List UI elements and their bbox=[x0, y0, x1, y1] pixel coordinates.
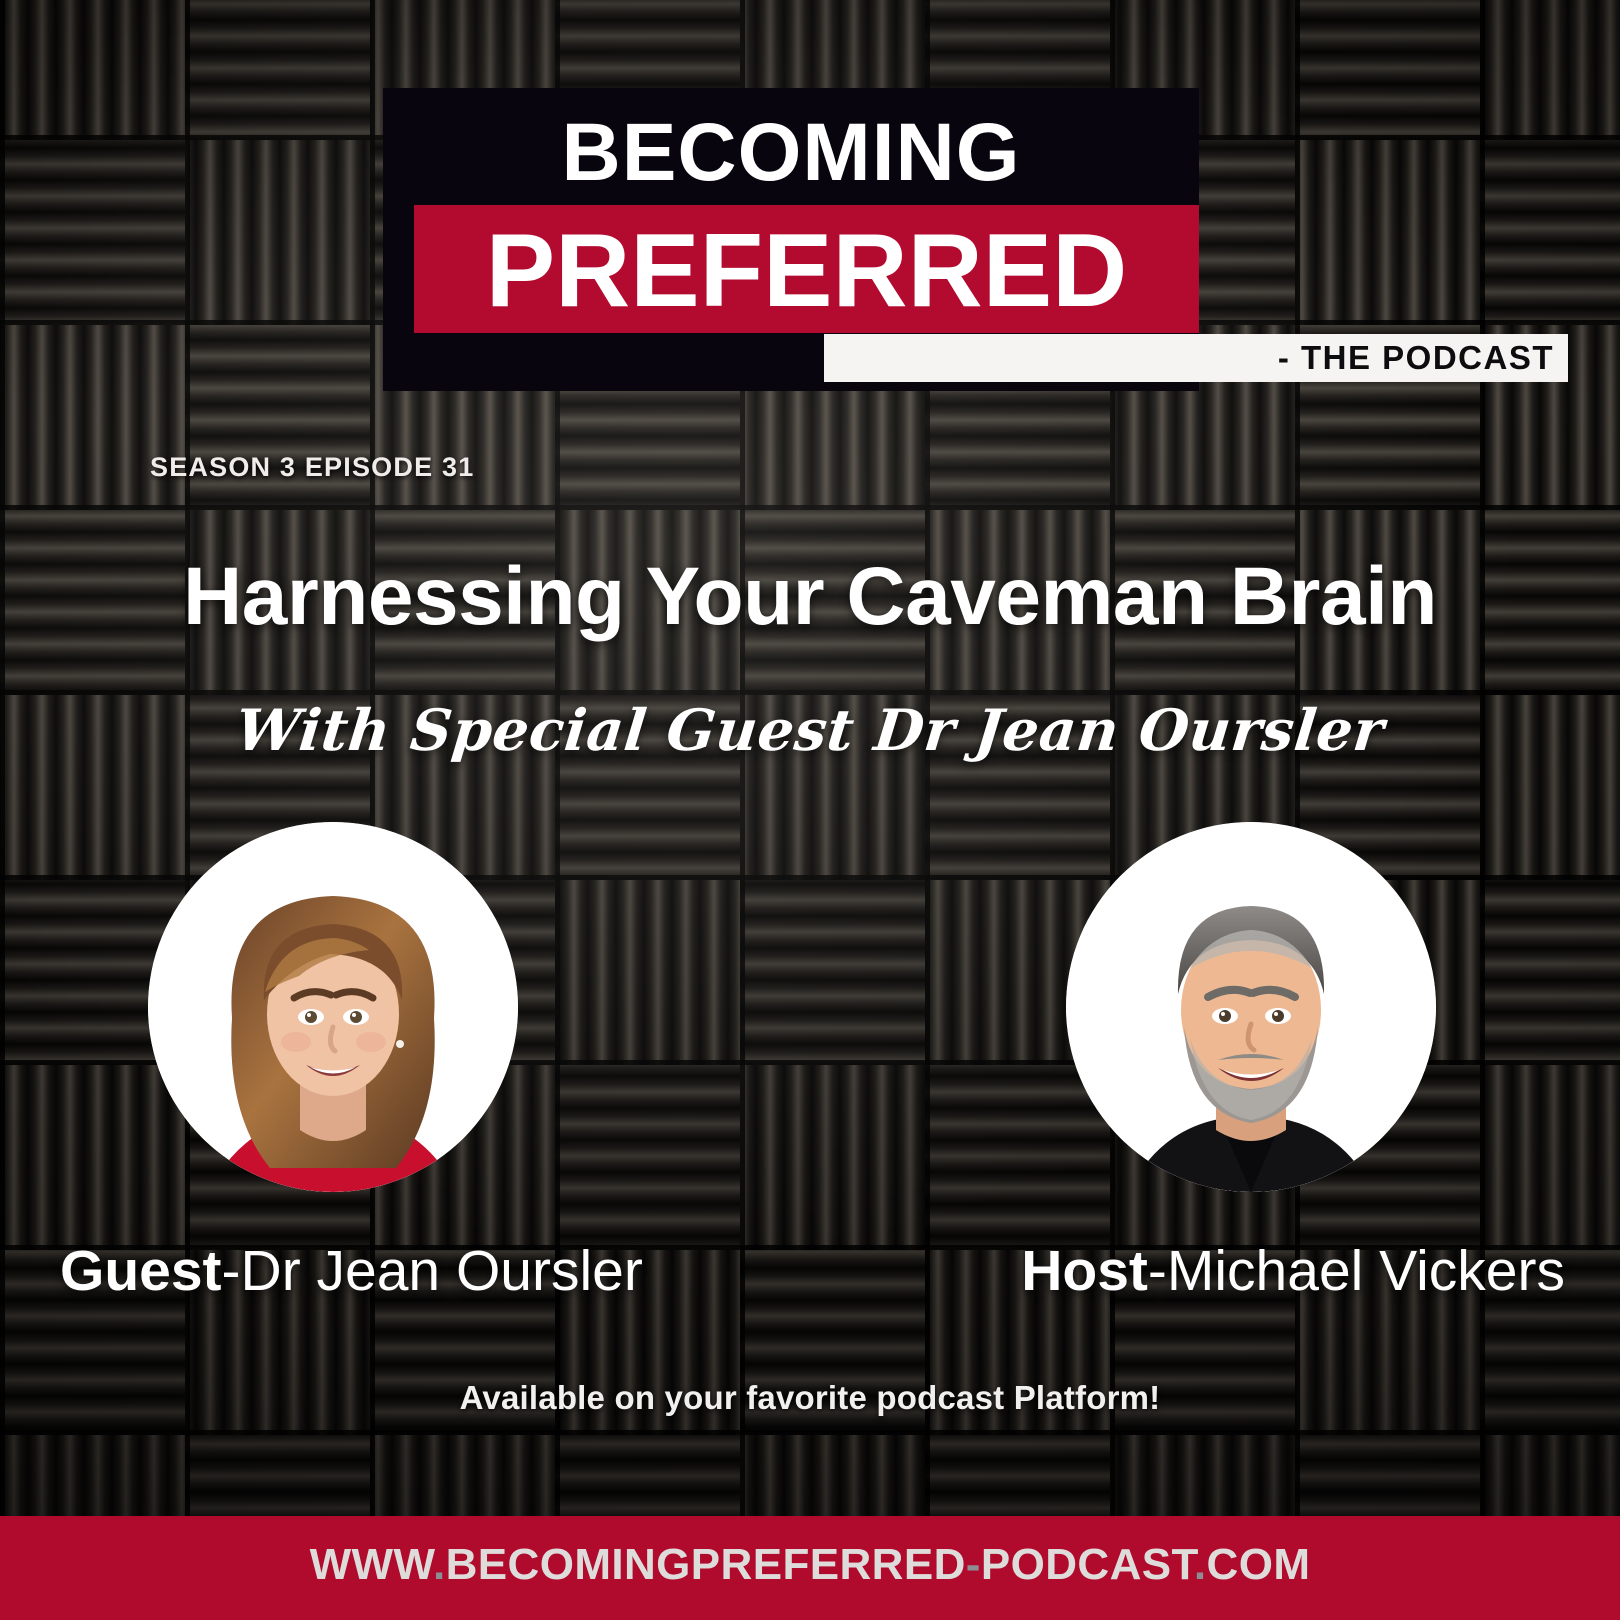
website-url[interactable]: WWW.BECOMINGPREFERRED-PODCAST.COM bbox=[0, 1543, 1620, 1587]
logo-word-preferred: PREFERRED bbox=[414, 219, 1199, 323]
website-url-bar[interactable]: WWW.BECOMINGPREFERRED-PODCAST.COM bbox=[0, 1516, 1620, 1620]
guest-headshot-illustration bbox=[148, 822, 518, 1192]
url-tld: COM bbox=[1207, 1540, 1311, 1589]
logo-tagline-strip: - THE PODCAST bbox=[824, 334, 1568, 382]
host-avatar bbox=[1066, 822, 1436, 1192]
url-www: WWW bbox=[310, 1540, 433, 1589]
brand-logo-plate: BECOMING PREFERRED - THE PODCAST bbox=[383, 88, 1199, 391]
url-domain: BECOMINGPREFERRED bbox=[446, 1540, 966, 1589]
podcast-cover-art: BECOMING PREFERRED - THE PODCAST SEASON … bbox=[0, 0, 1620, 1620]
guest-name: Dr Jean Oursler bbox=[241, 1239, 643, 1303]
guest-separator: - bbox=[222, 1239, 241, 1303]
url-dash: - bbox=[966, 1540, 981, 1589]
host-role-label: Host bbox=[1021, 1239, 1148, 1303]
url-dot-2: . bbox=[1194, 1540, 1207, 1589]
guest-avatar bbox=[148, 822, 518, 1192]
url-dot-1: . bbox=[433, 1540, 446, 1589]
logo-tagline-text: - THE PODCAST bbox=[1278, 339, 1554, 377]
logo-word-becoming: BECOMING bbox=[383, 112, 1199, 194]
season-episode-label: SEASON 3 EPISODE 31 bbox=[150, 452, 474, 483]
guest-role-label: Guest bbox=[60, 1239, 222, 1303]
host-separator: - bbox=[1148, 1239, 1167, 1303]
host-name: Michael Vickers bbox=[1167, 1239, 1565, 1303]
availability-note: Available on your favorite podcast Platf… bbox=[0, 1379, 1620, 1417]
logo-red-band: PREFERRED bbox=[414, 205, 1199, 333]
episode-subtitle: With Special Guest Dr Jean Oursler bbox=[0, 702, 1620, 759]
guest-credit: Guest-Dr Jean Oursler bbox=[60, 1243, 643, 1300]
host-credit: Host-Michael Vickers bbox=[1021, 1243, 1565, 1300]
host-headshot-illustration bbox=[1066, 822, 1436, 1192]
url-domain-2: PODCAST bbox=[981, 1540, 1194, 1589]
episode-title: Harnessing Your Caveman Brain bbox=[0, 556, 1620, 638]
